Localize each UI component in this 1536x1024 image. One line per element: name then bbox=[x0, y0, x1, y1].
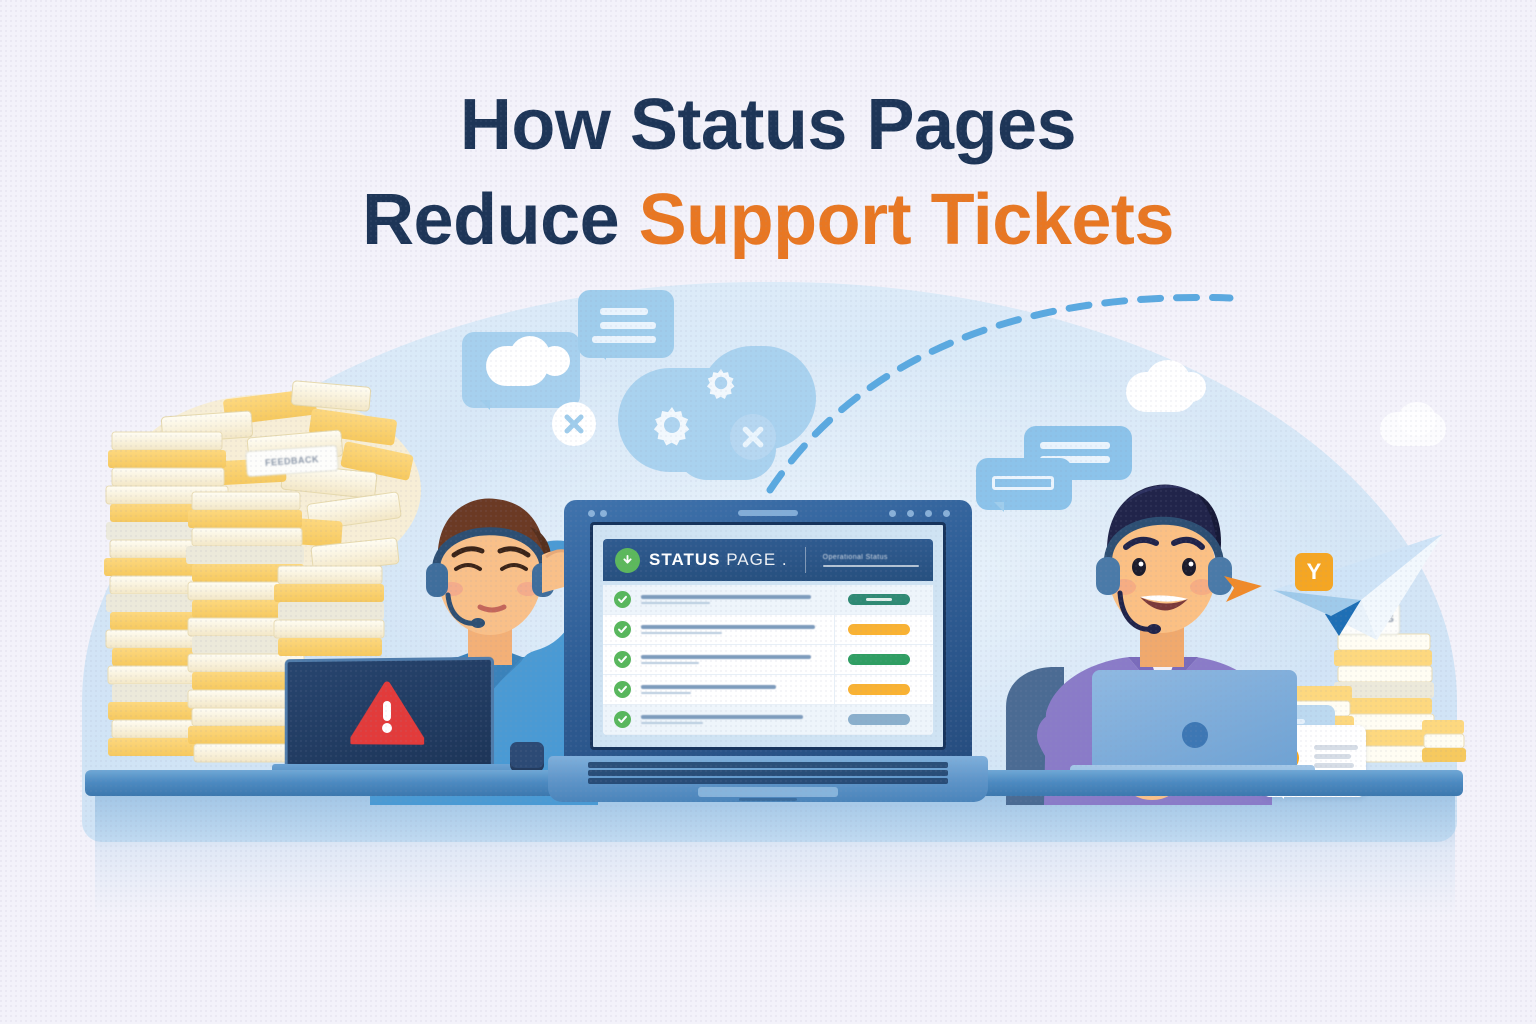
laptop-trackpad bbox=[698, 787, 838, 797]
status-meta-text: Operational Status bbox=[823, 554, 888, 561]
illustration-canvas: How Status Pages Reduce Support Tickets bbox=[0, 0, 1536, 1024]
cloud-icon bbox=[540, 346, 570, 376]
status-page-meta: Operational Status bbox=[823, 554, 921, 567]
title-prefix: Reduce bbox=[362, 180, 639, 260]
status-badge[interactable] bbox=[848, 594, 910, 605]
check-circle-icon bbox=[614, 711, 631, 728]
status-row[interactable] bbox=[603, 615, 933, 645]
main-laptop: STATUS PAGE . Operational Status bbox=[548, 500, 988, 820]
status-row-subtitle-bar bbox=[641, 632, 722, 634]
status-pill-cell bbox=[834, 705, 922, 734]
status-row[interactable] bbox=[603, 705, 933, 735]
status-page-title: STATUS PAGE . bbox=[649, 550, 788, 570]
right-laptop-lid bbox=[1092, 670, 1297, 768]
main-laptop-base bbox=[548, 756, 988, 802]
status-row-subtitle-bar bbox=[641, 602, 710, 604]
check-circle-icon bbox=[614, 651, 631, 668]
status-meta-rule bbox=[823, 565, 919, 567]
status-page-header: STATUS PAGE . Operational Status bbox=[603, 539, 933, 581]
status-row-title-bar bbox=[641, 625, 815, 629]
status-row-subtitle-bar bbox=[641, 692, 691, 694]
status-pill-cell bbox=[834, 675, 922, 704]
title-accent: Support Tickets bbox=[639, 180, 1174, 260]
status-page-screen: STATUS PAGE . Operational Status bbox=[590, 522, 946, 750]
status-row-title-bar bbox=[641, 685, 776, 689]
x-mark-icon bbox=[552, 402, 596, 446]
status-title-light: PAGE . bbox=[720, 550, 787, 569]
download-circle-icon bbox=[615, 548, 640, 573]
status-row[interactable] bbox=[603, 645, 933, 675]
status-row-subtitle-bar bbox=[641, 722, 703, 724]
status-row[interactable] bbox=[603, 585, 933, 615]
computer-mouse-icon bbox=[510, 742, 544, 772]
status-row-text bbox=[641, 595, 834, 604]
status-badge[interactable] bbox=[848, 684, 910, 695]
status-row-title-bar bbox=[641, 715, 803, 719]
laptop-logo bbox=[1182, 722, 1208, 748]
title-line-2: Reduce Support Tickets bbox=[0, 173, 1536, 268]
laptop-bezel-top bbox=[564, 506, 972, 520]
left-laptop bbox=[272, 650, 512, 790]
plane-badge: Y bbox=[1295, 553, 1333, 591]
status-badge-label bbox=[866, 598, 892, 601]
laptop-keyboard bbox=[588, 762, 948, 784]
bubble-line bbox=[600, 322, 656, 329]
status-row-text bbox=[641, 715, 834, 724]
status-row-text bbox=[641, 655, 834, 664]
status-row[interactable] bbox=[603, 675, 933, 705]
main-laptop-lid: STATUS PAGE . Operational Status bbox=[564, 500, 972, 762]
status-pill-cell bbox=[834, 585, 922, 614]
left-laptop-lid bbox=[285, 657, 494, 770]
illustration-scene: FEEDBACK bbox=[0, 250, 1536, 890]
bubble-line bbox=[600, 308, 648, 315]
gear-icon bbox=[700, 362, 742, 404]
check-circle-icon bbox=[614, 621, 631, 638]
status-badge[interactable] bbox=[848, 654, 910, 665]
cloud-icon bbox=[1398, 402, 1436, 436]
laptop-front-notch bbox=[739, 798, 797, 801]
title-line-1: How Status Pages bbox=[0, 78, 1536, 173]
status-badge[interactable] bbox=[848, 714, 910, 725]
status-row-text bbox=[641, 625, 834, 634]
status-row-list bbox=[603, 585, 933, 735]
page-title: How Status Pages Reduce Support Tickets bbox=[0, 78, 1536, 268]
header-divider bbox=[805, 547, 806, 573]
warning-triangle-icon bbox=[350, 681, 424, 746]
status-row-subtitle-bar bbox=[641, 662, 699, 664]
status-title-bold: STATUS bbox=[649, 550, 720, 569]
bubble-line bbox=[592, 336, 656, 343]
paper-plane-icon bbox=[1265, 528, 1455, 648]
check-circle-icon bbox=[614, 681, 631, 698]
plane-badge-glyph: Y bbox=[1307, 561, 1322, 583]
status-pill-cell bbox=[834, 645, 922, 674]
status-badge[interactable] bbox=[848, 624, 910, 635]
status-row-title-bar bbox=[641, 595, 811, 599]
check-circle-icon bbox=[614, 591, 631, 608]
status-pill-cell bbox=[834, 615, 922, 644]
status-row-text bbox=[641, 685, 834, 694]
status-row-title-bar bbox=[641, 655, 811, 659]
gear-icon bbox=[645, 398, 699, 452]
